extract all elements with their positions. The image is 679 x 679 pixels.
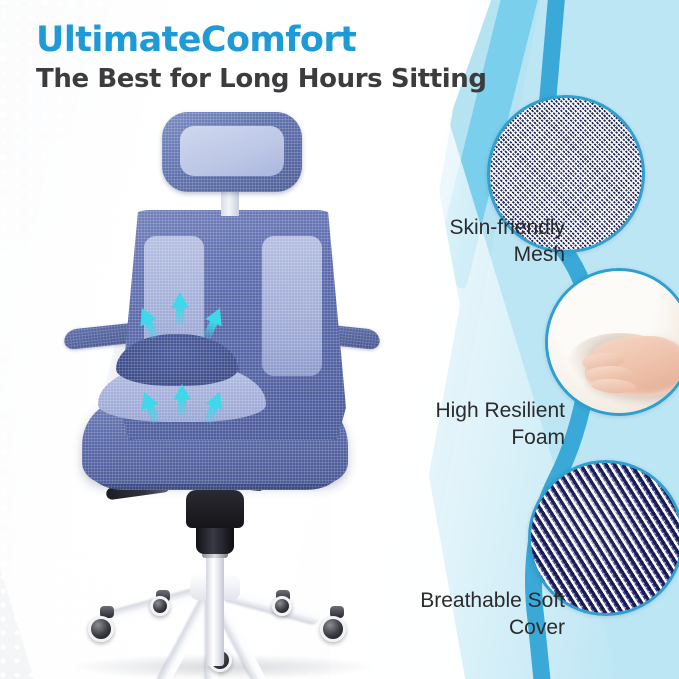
gas-lift-column: [206, 556, 224, 666]
foam-photo: [548, 271, 679, 413]
headrest-stem: [221, 188, 239, 216]
feature-label-breathable-soft-cover: Breathable Soft Cover: [348, 588, 565, 642]
caster-wheel: [272, 596, 292, 616]
tilt-mechanism: [186, 490, 244, 528]
caster-wheel: [150, 596, 170, 616]
page-title: UltimateComfort: [36, 22, 487, 59]
caster-wheel: [320, 616, 346, 642]
title-block: UltimateComfort The Best for Long Hours …: [36, 22, 487, 93]
infographic-canvas: UltimateComfort The Best for Long Hours …: [0, 0, 679, 679]
office-chair-illustration: [58, 112, 388, 672]
feature-label-skin-friendly-mesh: Skin-friendly Mesh: [360, 215, 565, 269]
headrest: [162, 112, 302, 192]
caster-wheel: [88, 616, 114, 642]
backrest-panel-right: [262, 236, 322, 376]
page-subtitle: The Best for Long Hours Sitting: [36, 65, 487, 94]
swatch-high-resilient-foam: [545, 268, 679, 416]
headrest-inner-panel: [180, 126, 284, 176]
feature-label-high-resilient-foam: High Resilient Foam: [360, 398, 565, 452]
